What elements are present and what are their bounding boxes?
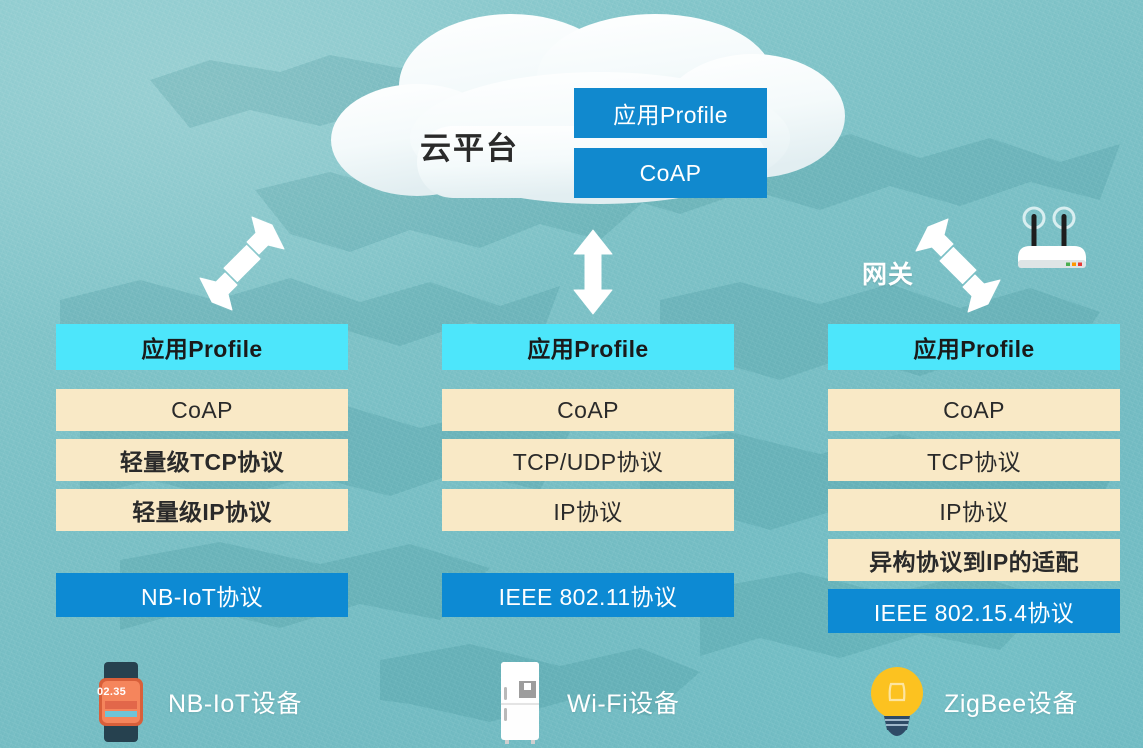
device-label-wifi: Wi-Fi设备 (567, 684, 680, 720)
protocol-column-wifi: 应用Profile CoAP TCP/UDP协议 IP协议 IEEE 802.1… (442, 324, 734, 617)
device-wifi: Wi-Fi设备 (485, 660, 680, 744)
device-nb-iot: 02.35 NB-IoT设备 (86, 660, 302, 744)
layer-transport[interactable]: TCP协议 (828, 439, 1120, 481)
protocol-column-nb-iot: 应用Profile CoAP 轻量级TCP协议 轻量级IP协议 NB-IoT协议 (56, 324, 348, 617)
layer-link[interactable]: NB-IoT协议 (56, 573, 348, 617)
device-label-zigbee: ZigBee设备 (944, 684, 1078, 720)
layer-coap[interactable]: CoAP (828, 389, 1120, 431)
cloud-platform: 云平台 应用Profile CoAP (325, 8, 875, 223)
layer-adaptation[interactable]: 异构协议到IP的适配 (828, 539, 1120, 581)
layer-application-profile[interactable]: 应用Profile (56, 324, 348, 370)
layer-transport[interactable]: TCP/UDP协议 (442, 439, 734, 481)
layer-coap[interactable]: CoAP (442, 389, 734, 431)
layer-network[interactable]: IP协议 (828, 489, 1120, 531)
layer-link[interactable]: IEEE 802.15.4协议 (828, 589, 1120, 633)
arrow-right-double-headed-icon (908, 218, 1008, 313)
cloud-box-application-profile[interactable]: 应用Profile (574, 88, 767, 138)
smartwatch-icon: 02.35 (86, 660, 156, 744)
router-icon (1008, 206, 1096, 272)
device-zigbee: ZigBee设备 (862, 660, 1078, 744)
layer-transport[interactable]: 轻量级TCP协议 (56, 439, 348, 481)
layer-application-profile[interactable]: 应用Profile (828, 324, 1120, 370)
diagram-canvas: 云平台 应用Profile CoAP 网关 (0, 0, 1143, 748)
layer-link[interactable]: IEEE 802.11协议 (442, 573, 734, 617)
watch-time-display: 02.35 (97, 686, 126, 698)
refrigerator-icon (485, 660, 555, 744)
arrow-left-double-headed-icon (192, 216, 292, 311)
arrow-middle-double-headed-icon (570, 228, 616, 316)
layer-network[interactable]: 轻量级IP协议 (56, 489, 348, 531)
layer-network[interactable]: IP协议 (442, 489, 734, 531)
cloud-platform-title: 云平台 (420, 123, 519, 168)
layer-application-profile[interactable]: 应用Profile (442, 324, 734, 370)
lightbulb-icon (862, 660, 932, 744)
device-label-nb-iot: NB-IoT设备 (168, 684, 302, 720)
protocol-column-zigbee: 应用Profile CoAP TCP协议 IP协议 异构协议到IP的适配 IEE… (828, 324, 1120, 633)
cloud-box-coap[interactable]: CoAP (574, 148, 767, 198)
layer-coap[interactable]: CoAP (56, 389, 348, 431)
gateway-label: 网关 (862, 255, 914, 291)
